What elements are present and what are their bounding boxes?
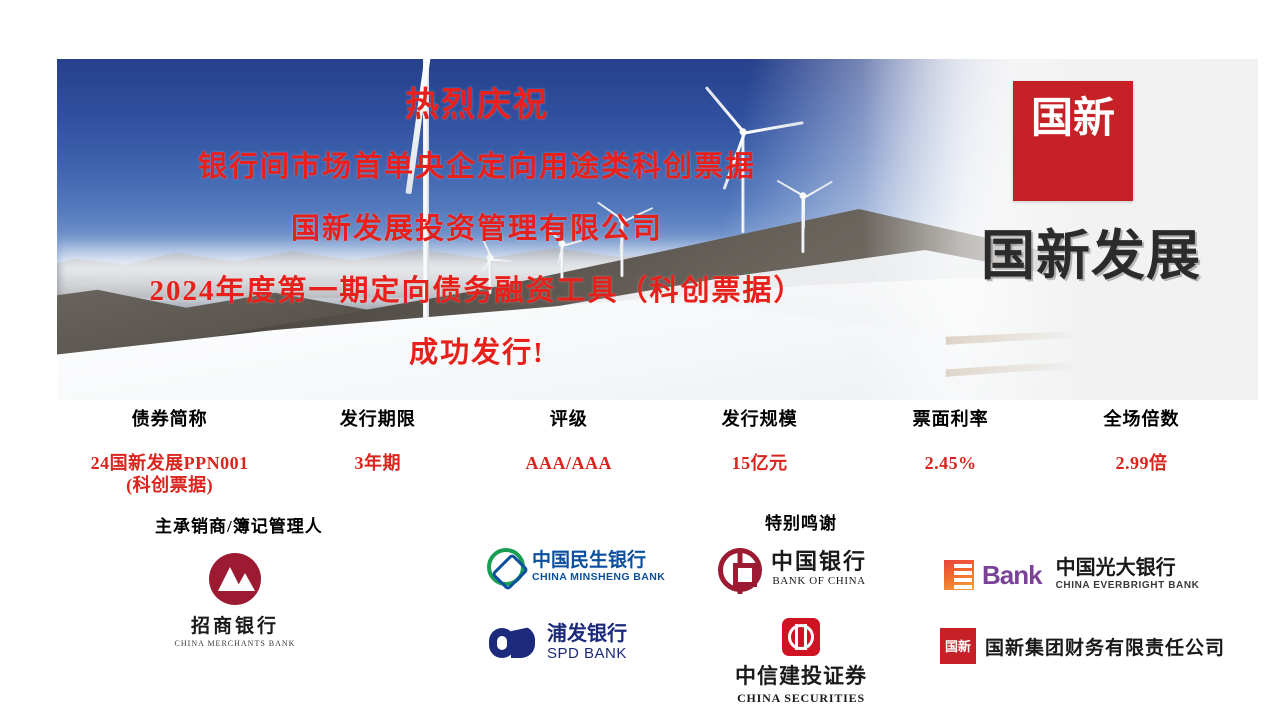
special-thanks-label: 特别鸣谢: [765, 509, 837, 534]
table-header: 票面利率: [855, 408, 1046, 430]
china-everbright-bank-name-cn: 中国光大银行: [1056, 558, 1200, 579]
bank-of-china-name-en: BANK OF CHINA: [771, 574, 867, 588]
table-header: 评级: [473, 408, 664, 430]
china-everbright-bank-name-en: CHINA EVERBRIGHT BANK: [1056, 579, 1200, 592]
wind-turbine-icon: [621, 219, 623, 277]
deal-summary-table: 债券简称 24国新发展PPN001 (科创票据) 发行期限 3年期 评级 AAA…: [57, 408, 1237, 496]
table-header: 发行期限: [282, 408, 473, 430]
guoxin-seal-icon: 国新: [1013, 81, 1133, 201]
table-cell: 3年期: [282, 452, 473, 474]
table-cell: 2.99倍: [1046, 452, 1237, 474]
wind-turbine-icon: [489, 257, 491, 295]
china-minsheng-bank-name-en: CHINA MINSHENG BANK: [532, 571, 665, 584]
china-securities-icon: [782, 618, 820, 656]
logo-china-merchants-bank: 招商银行 CHINA MERCHANTS BANK: [170, 553, 300, 648]
wind-turbine-icon: [742, 131, 745, 233]
logo-bank-of-china: 中国银行 BANK OF CHINA: [718, 548, 867, 592]
corporate-logo-name: 国新发展: [964, 211, 1218, 290]
logo-spd-bank: 浦发银行 SPD BANK: [489, 624, 627, 662]
table-header: 发行规模: [664, 408, 855, 430]
wind-turbine-icon: [423, 59, 429, 318]
china-everbright-bank-icon: [944, 560, 974, 590]
guoxin-seal-text: 国新: [1030, 98, 1116, 184]
logo-china-securities: 中信建投证券 CHINA SECURITIES: [722, 618, 880, 706]
guoxin-group-finance-seal-text: 国新: [945, 640, 971, 653]
table-header: 全场倍数: [1046, 408, 1237, 430]
corporate-logo: 国新 国新发展: [970, 81, 1210, 331]
table-cell: AAA/AAA: [473, 452, 664, 474]
china-securities-name-en: CHINA SECURITIES: [722, 691, 880, 706]
china-minsheng-bank-icon: [487, 548, 525, 586]
bank-of-china-icon: [718, 548, 762, 592]
table-header: 债券简称: [57, 408, 282, 430]
spd-bank-name-cn: 浦发银行: [547, 624, 627, 645]
logo-guoxin-group-finance: 国新 国新集团财务有限责任公司: [940, 628, 1225, 664]
bank-of-china-name-cn: 中国银行: [771, 550, 867, 574]
hero-banner: 热烈庆祝 银行间市场首单央企定向用途类科创票据 国新发展投资管理有限公司 202…: [57, 59, 1258, 400]
table-column-bond-name: 债券简称 24国新发展PPN001 (科创票据): [57, 408, 282, 496]
table-column-size: 发行规模 15亿元: [664, 408, 855, 496]
table-column-oversubscription: 全场倍数 2.99倍: [1046, 408, 1237, 496]
wind-turbine-icon: [561, 243, 563, 281]
wind-turbine-icon: [802, 195, 804, 253]
china-merchants-bank-icon: [209, 553, 261, 605]
table-column-tenor: 发行期限 3年期: [282, 408, 473, 496]
table-cell: 2.45%: [855, 452, 1046, 474]
underwriter-label: 主承销商/簿记管理人: [155, 512, 323, 537]
table-cell: 24国新发展PPN001 (科创票据): [57, 452, 282, 496]
china-everbright-bank-wordmark: Bank: [982, 562, 1042, 588]
logo-china-minsheng-bank: 中国民生银行 CHINA MINSHENG BANK: [487, 548, 665, 586]
china-merchants-bank-name-cn: 招商银行: [170, 611, 300, 638]
china-securities-name-cn: 中信建投证券: [722, 660, 880, 690]
table-column-rating: 评级 AAA/AAA: [473, 408, 664, 496]
guoxin-group-finance-name-cn: 国新集团财务有限责任公司: [985, 633, 1225, 660]
spd-bank-icon: [489, 626, 535, 660]
table-column-coupon: 票面利率 2.45%: [855, 408, 1046, 496]
logo-china-everbright-bank: Bank 中国光大银行 CHINA EVERBRIGHT BANK: [944, 558, 1199, 592]
table-cell: 15亿元: [664, 452, 855, 474]
china-merchants-bank-name-en: CHINA MERCHANTS BANK: [170, 639, 300, 648]
guoxin-group-finance-icon: 国新: [940, 628, 976, 664]
china-minsheng-bank-name-cn: 中国民生银行: [532, 551, 665, 571]
spd-bank-name-en: SPD BANK: [547, 645, 627, 662]
